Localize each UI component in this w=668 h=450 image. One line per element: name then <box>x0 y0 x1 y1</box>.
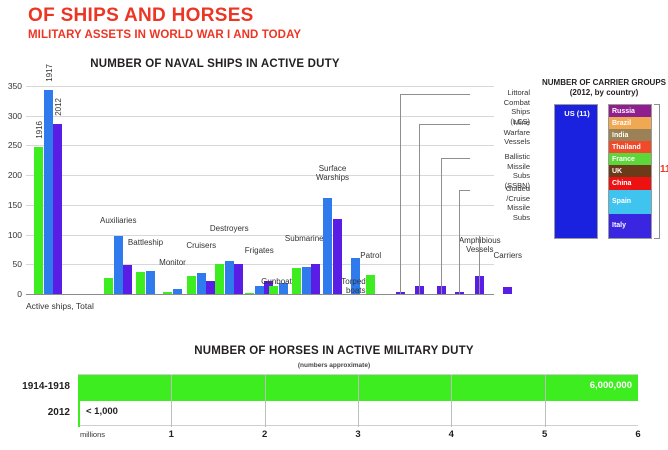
bar-1916 <box>292 268 301 294</box>
bar-1917 <box>225 261 234 294</box>
bar-1917 <box>197 273 206 294</box>
carrier-segment-china: China <box>609 177 651 189</box>
bar-1917 <box>114 236 123 294</box>
carrier-panel-title: NUMBER OF CARRIER GROUPS (2012, by count… <box>540 78 668 98</box>
bar-group-label: Patrol <box>360 251 381 260</box>
callout-line-vertical <box>441 158 442 294</box>
bar-1916 <box>269 286 278 294</box>
us-carrier-bar: US (11) <box>554 104 598 239</box>
callout-line-vertical <box>459 190 460 294</box>
naval-plot-area: 050100150200250300350 AuxiliariesBattles… <box>26 86 494 294</box>
horses-unit-label: millions <box>80 430 105 439</box>
us-carrier-label: US (11) <box>555 109 599 118</box>
bar-group-label: Cruisers <box>186 241 216 250</box>
horses-value-2012: < 1,000 <box>86 406 118 417</box>
carrier-groups-panel: NUMBER OF CARRIER GROUPS (2012, by count… <box>540 78 668 278</box>
bar-1916 <box>245 293 254 294</box>
bar-1917 <box>44 90 53 294</box>
bar-1917 <box>173 289 182 294</box>
callout-line-horizontal <box>419 124 470 125</box>
carrier-segment-spain: Spain <box>609 190 651 214</box>
y-tick-label: 0 <box>17 289 22 299</box>
horses-x-tick: 3 <box>355 429 360 440</box>
horses-chart-title: NUMBER OF HORSES IN ACTIVE MILITARY DUTY <box>0 345 668 357</box>
naval-xaxis-label: Active ships, Total <box>26 301 94 311</box>
bar-group-label: Frigates <box>245 246 274 255</box>
bar-group-label: SurfaceWarships <box>316 164 349 182</box>
bar-1917 <box>302 267 311 294</box>
y-tick-label: 300 <box>8 111 22 121</box>
horses-plot-area: 1914-1918 2012 6,000,000 < 1,000 <box>78 374 638 426</box>
carrier-segment-uk: UK <box>609 165 651 177</box>
bar-1917 <box>323 198 332 294</box>
horses-gridline <box>358 375 359 427</box>
y-tick-label: 100 <box>8 230 22 240</box>
bar-1916 <box>34 147 43 294</box>
callout-line-horizontal <box>400 94 470 95</box>
horses-value-wwi: 6,000,000 <box>590 380 632 391</box>
horses-chart: NUMBER OF HORSES IN ACTIVE MILITARY DUTY… <box>0 345 668 450</box>
y-tick-label: 150 <box>8 200 22 210</box>
y-tick-label: 200 <box>8 170 22 180</box>
bar-2012 <box>333 219 342 294</box>
horses-gridline <box>265 375 266 427</box>
bar-2012 <box>503 287 512 294</box>
bar-1916 <box>104 278 113 294</box>
naval-chart-title: NUMBER OF NAVAL SHIPS IN ACTIVE DUTY <box>0 58 430 70</box>
bar-group-label: Monitor <box>159 258 186 267</box>
callout-label: Guided/CruiseMissileSubs <box>474 184 530 222</box>
carrier-chart-body: US (11) RussiaBrazilIndiaThailandFranceU… <box>540 104 668 254</box>
horses-x-tick: 5 <box>542 429 547 440</box>
y-tick-label: 250 <box>8 140 22 150</box>
infographic-header: OF SHIPS AND HORSES MILITARY ASSETS IN W… <box>28 6 301 41</box>
callout-line-vertical <box>419 124 420 294</box>
bar-1916 <box>215 264 224 294</box>
gridline-0 <box>26 294 494 295</box>
bar-1916 <box>187 276 196 294</box>
bar-group-label: Battleship <box>128 238 163 247</box>
bar-1916 <box>136 272 145 294</box>
bar-2012 <box>53 124 62 294</box>
horses-row-label-wwi: 1914-1918 <box>22 381 70 392</box>
bar-group-label: Submarines <box>285 234 328 243</box>
horses-gridline <box>545 375 546 427</box>
carrier-segment-thailand: Thailand <box>609 141 651 153</box>
carrier-segment-france: France <box>609 153 651 165</box>
bar-2012 <box>206 281 215 294</box>
carrier-segment-brazil: Brazil <box>609 117 651 129</box>
bar-group-label: Auxiliaries <box>100 216 136 225</box>
carrier-segment-india: India <box>609 129 651 141</box>
callout-line-vertical <box>479 236 480 294</box>
horses-row-label-2012: 2012 <box>48 407 70 418</box>
page-title: OF SHIPS AND HORSES <box>28 6 301 26</box>
horses-gridline <box>171 375 172 427</box>
carrier-title-line2: (2012, by country) <box>540 88 668 98</box>
y-tick-label: 50 <box>13 259 22 269</box>
carrier-segment-italy: Italy <box>609 214 651 238</box>
bar-2012 <box>123 265 132 294</box>
bar-1916 <box>163 292 172 294</box>
horses-x-tick: 4 <box>449 429 454 440</box>
page-subtitle: MILITARY ASSETS IN WORLD WAR I AND TODAY <box>28 29 301 41</box>
bar-1916 <box>366 275 375 294</box>
horses-x-tick: 2 <box>262 429 267 440</box>
carrier-title-line1: NUMBER OF CARRIER GROUPS <box>540 78 668 88</box>
horses-gridline <box>451 375 452 427</box>
year-label-1917: 1917 <box>45 64 54 82</box>
horses-bar-2012 <box>78 401 80 427</box>
y-tick-label: 350 <box>8 81 22 91</box>
bar-group-label: Destroyers <box>210 224 249 233</box>
country-carrier-stack: RussiaBrazilIndiaThailandFranceUKChinaSp… <box>608 104 652 239</box>
horses-x-tick: 6 <box>635 429 640 440</box>
callout-label: MineWarfareVessels <box>474 118 530 147</box>
callout-line-horizontal <box>441 158 470 159</box>
carrier-segment-russia: Russia <box>609 105 651 117</box>
bar-2012 <box>234 264 243 294</box>
callout-line-vertical <box>400 94 401 294</box>
bar-1917 <box>255 286 264 294</box>
naval-bar-group-container: AuxiliariesBattleshipMonitorCruisersDest… <box>26 86 494 294</box>
horses-chart-subtitle: (numbers approximate) <box>0 362 668 369</box>
year-label-1916: 1916 <box>35 121 44 139</box>
carrier-total-label: 11 <box>660 164 668 175</box>
bar-2012 <box>311 264 320 294</box>
horses-x-tick: 1 <box>169 429 174 440</box>
bar-group-label: Carriers <box>494 251 522 260</box>
bar-group-label: Gunboats <box>261 277 296 286</box>
naval-ships-chart: NUMBER OF NAVAL SHIPS IN ACTIVE DUTY 050… <box>0 58 530 318</box>
callout-line-horizontal <box>459 190 470 191</box>
year-label-2012: 2012 <box>54 98 63 116</box>
bar-1917 <box>146 271 155 294</box>
